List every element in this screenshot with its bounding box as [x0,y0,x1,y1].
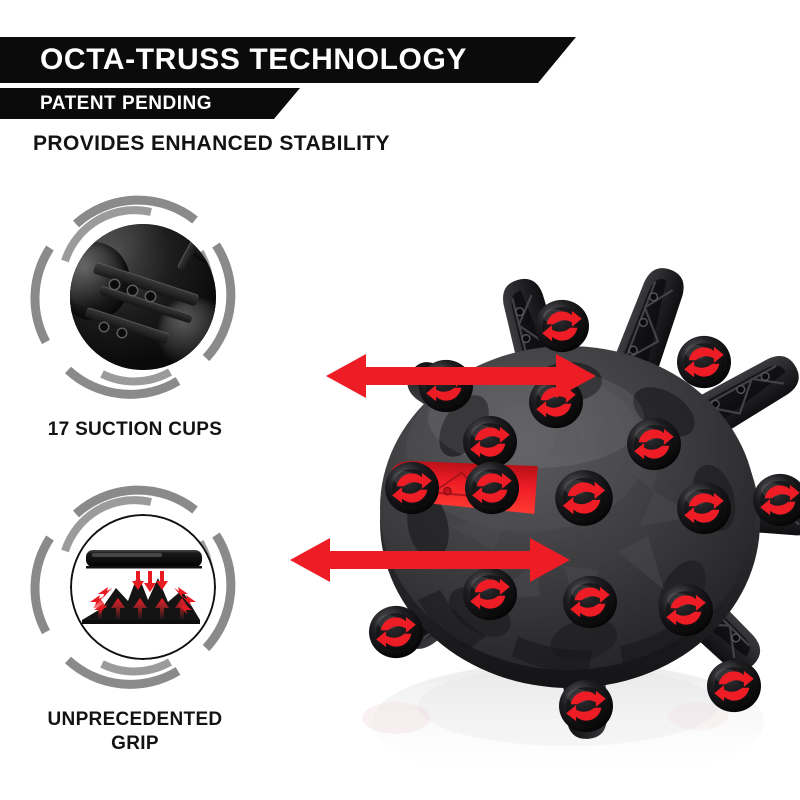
suction-cup [369,606,423,658]
suction-cup-macro-inset [70,224,216,370]
grip-diagram-inset [70,514,216,660]
feature-grip-label-line2: GRIP [10,732,260,756]
infographic-canvas: OCTA-TRUSS TECHNOLOGY PATENT PENDING PRO… [0,0,800,800]
patent-text: PATENT PENDING [40,93,212,115]
patent-banner: PATENT PENDING [0,88,300,119]
feature-grip-label: UNPRECEDENTED GRIP [10,708,260,756]
suction-cup [563,576,617,628]
suction-cup-macro-image [70,224,216,370]
suction-cup [677,336,731,388]
grip-diagram-illustration [72,516,214,658]
feature-grip-graphic [10,472,260,702]
suction-cup [463,568,517,620]
suction-cup [559,680,613,732]
feature-suction-cups-graphic [10,182,260,412]
feature-suction-cups: 17 SUCTION CUPS [10,182,260,442]
suction-cup [463,416,517,468]
headline-banner: OCTA-TRUSS TECHNOLOGY [0,37,576,83]
octa-truss-hub-illustration [268,150,800,800]
feature-grip-label-line1: UNPRECEDENTED [10,708,260,732]
headline-text: OCTA-TRUSS TECHNOLOGY [40,43,467,77]
suction-cup-highlighted [465,462,519,514]
suction-cup [659,584,713,636]
product-image [268,150,800,800]
suction-cup-center [555,470,613,526]
suction-cup [677,482,731,534]
suction-cup-highlighted [385,462,439,514]
grip-force-diagram [70,514,216,660]
feature-grip: UNPRECEDENTED GRIP [10,472,260,756]
suction-cup [535,300,589,352]
suction-cup [707,660,761,712]
feature-suction-cups-label: 17 SUCTION CUPS [10,418,260,442]
suction-cup [627,418,681,470]
